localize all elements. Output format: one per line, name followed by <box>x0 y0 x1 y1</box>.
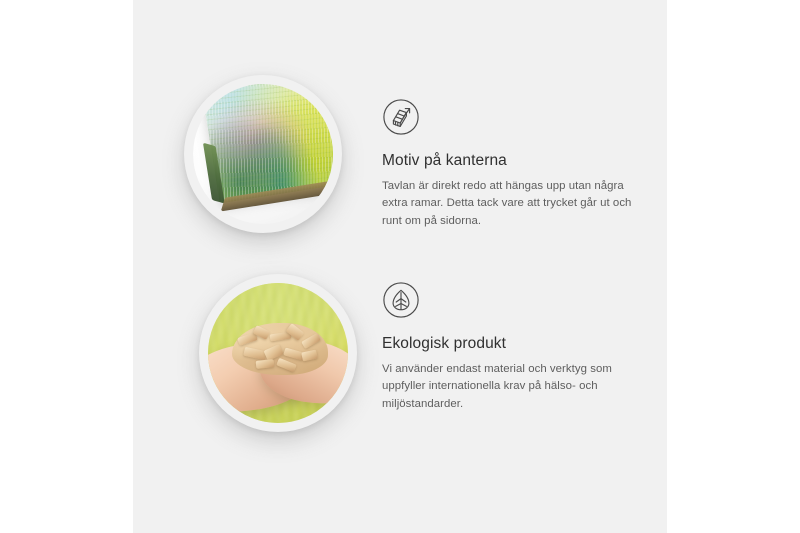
screenshot-stage: Motiv på kanterna Tavlan är direkt redo … <box>0 0 800 533</box>
feature-title: Motiv på kanterna <box>382 152 650 171</box>
canvas-print-photo <box>193 84 333 224</box>
feature-panel: Motiv på kanterna Tavlan är direkt redo … <box>133 0 667 533</box>
media-clip-circle <box>193 84 333 224</box>
wood-chips-pile <box>232 323 328 375</box>
feature-block-motiv-pa-kanterna: Motiv på kanterna Tavlan är direkt redo … <box>133 66 667 256</box>
wood-chip <box>256 359 275 369</box>
feature-title: Ekologisk produkt <box>382 335 650 354</box>
feature-text-motiv-pa-kanterna: Motiv på kanterna Tavlan är direkt redo … <box>382 98 650 231</box>
wood-chip <box>276 358 297 373</box>
feature-text-ekologisk-produkt: Ekologisk produkt Vi använder endast mat… <box>382 281 650 414</box>
leaf-icon <box>382 281 420 319</box>
wood-chip <box>301 333 321 349</box>
media-clip-circle <box>208 283 348 423</box>
feature-description: Tavlan är direkt redo att hängas upp uta… <box>382 178 650 231</box>
wood-chip <box>301 350 318 362</box>
wood-chips-hands-photo <box>208 283 348 423</box>
feature-block-ekologisk-produkt: Ekologisk produkt Vi använder endast mat… <box>133 255 667 445</box>
feature-description: Vi använder endast material och verktyg … <box>382 361 650 414</box>
wood-chip <box>243 347 266 360</box>
wrapped-canvas-edge-icon <box>382 98 420 136</box>
grass-background <box>208 283 348 423</box>
canvas-print-artwork <box>200 84 333 204</box>
